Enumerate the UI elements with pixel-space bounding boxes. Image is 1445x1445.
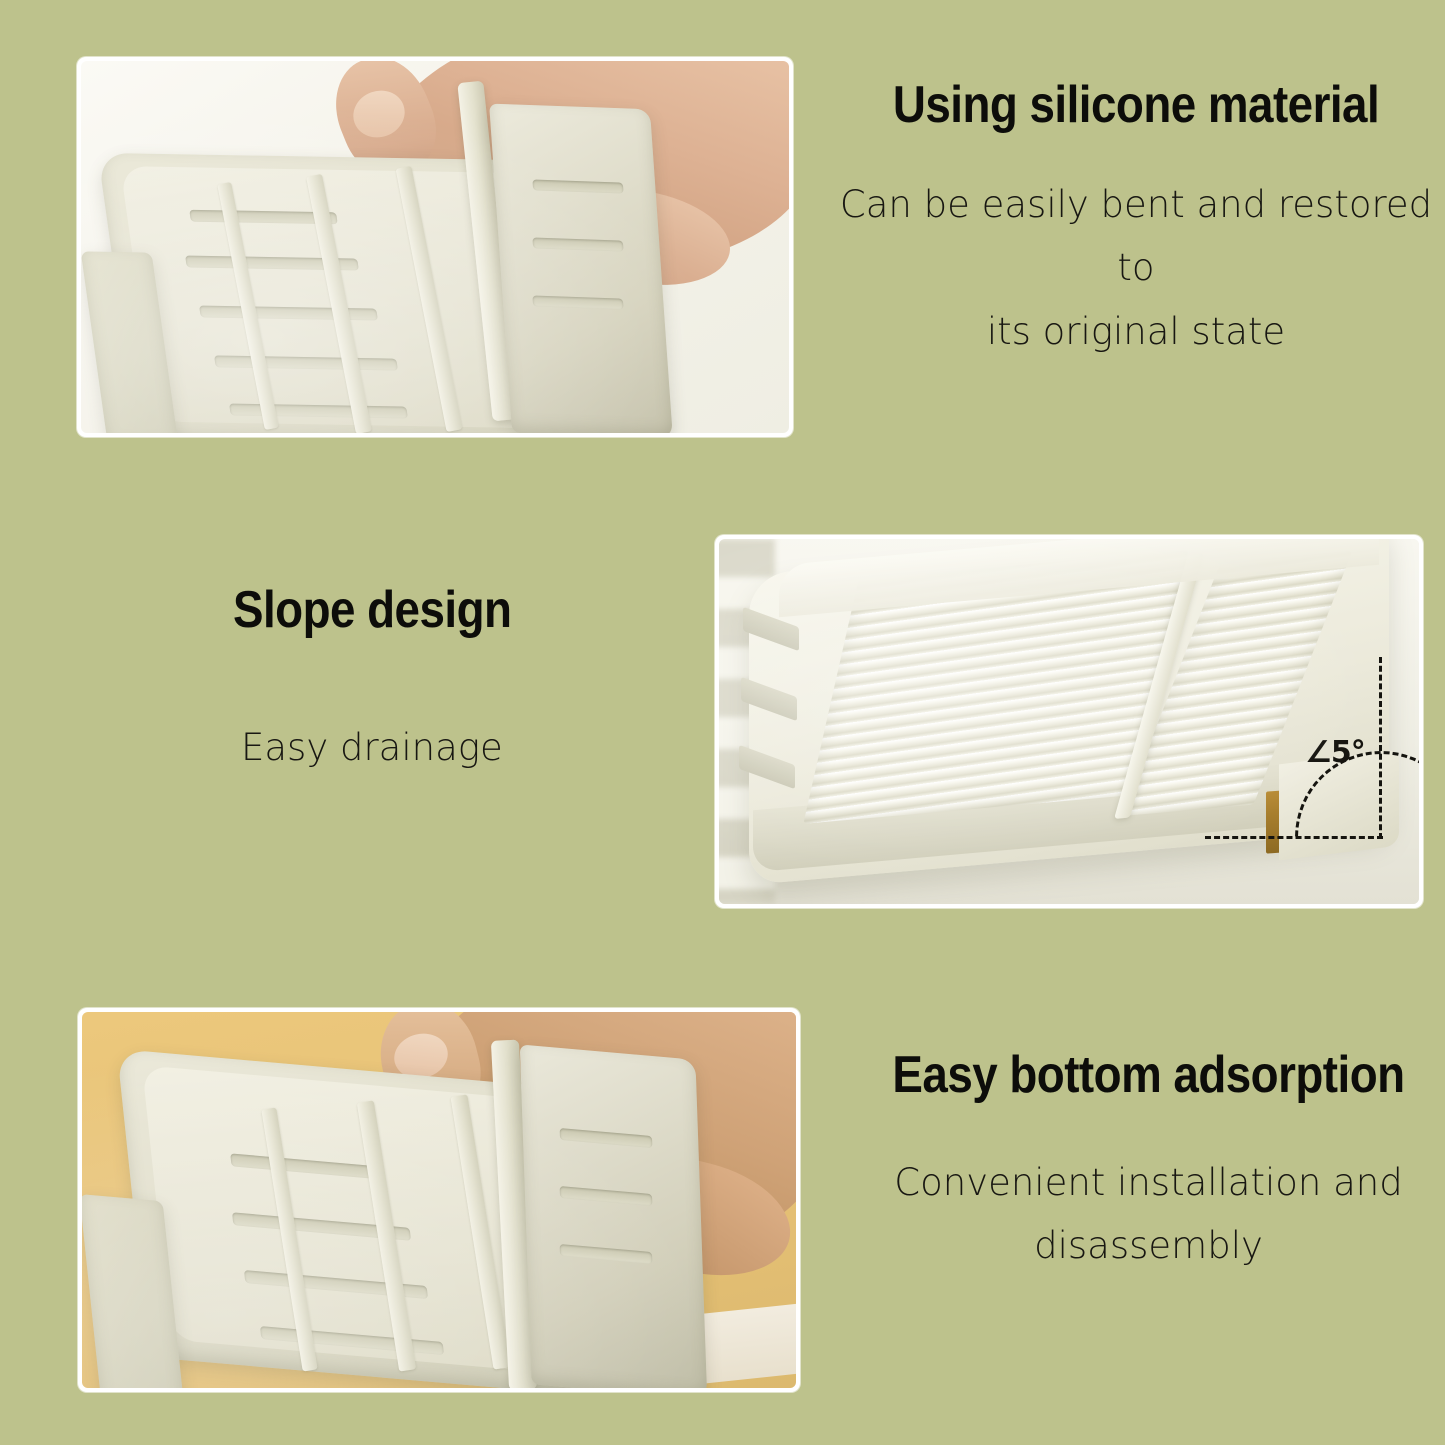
feature-heading-slope: Slope design: [233, 583, 691, 638]
scene-ridged-tray: ∠5°: [719, 539, 1419, 904]
feature-heading-silicone: Using silicone material: [872, 78, 1400, 133]
scene-bend-white: [81, 61, 789, 433]
infographic-canvas: Using silicone material Can be easily be…: [0, 0, 1445, 1445]
feature-heading-adsorption: Easy bottom adsorption: [891, 1048, 1406, 1103]
feature-body-line: Can be easily bent and restored to: [836, 173, 1436, 300]
feature-image-hand-bending-tray-wood-background: [78, 1008, 800, 1392]
photo-inner-wood: [82, 1012, 796, 1388]
feature-body-line: Easy drainage: [241, 716, 753, 780]
photo-sheen: [719, 539, 1419, 904]
feature-body-silicone: Can be easily bent and restored to its o…: [836, 173, 1436, 364]
photo-inner-white: [81, 61, 789, 433]
feature-image-hand-bending-tray-white-background: [77, 57, 793, 437]
photo-sheen: [81, 61, 789, 433]
feature-body-line: disassembly: [856, 1214, 1441, 1278]
feature-image-ridged-tray-closeup-with-angle: ∠5°: [715, 535, 1423, 908]
scene-bend-wood: [82, 1012, 796, 1388]
feature-body-line: Convenient installation and: [856, 1151, 1441, 1215]
photo-sheen: [82, 1012, 796, 1388]
feature-body-adsorption: Convenient installation and disassembly: [856, 1151, 1441, 1278]
feature-text-silicone: Using silicone material Can be easily be…: [836, 78, 1436, 363]
feature-text-slope: Slope design Easy drainage: [233, 583, 753, 779]
photo-inner-ridges: ∠5°: [719, 539, 1419, 904]
feature-body-slope: Easy drainage: [233, 716, 753, 780]
feature-text-adsorption: Easy bottom adsorption Convenient instal…: [856, 1048, 1441, 1278]
feature-body-line: its original state: [836, 300, 1436, 364]
